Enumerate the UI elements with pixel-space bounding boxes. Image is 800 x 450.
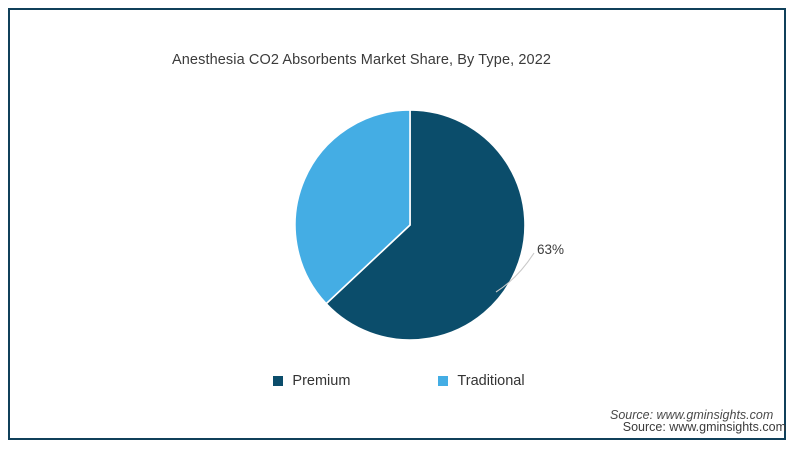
chart-card: Anesthesia CO2 Absorbents Market Share, … (8, 8, 786, 440)
legend-label-premium: Premium (292, 373, 350, 389)
legend-item-traditional[interactable]: Traditional (438, 373, 524, 389)
chart-title: Anesthesia CO2 Absorbents Market Share, … (172, 52, 551, 68)
pie-slice-group (295, 110, 525, 340)
legend-swatch-premium (273, 376, 283, 386)
data-label-premium: 63% (537, 242, 564, 257)
chart-legend: Premium Traditional (10, 373, 786, 389)
pie-slice-traditional[interactable] (295, 110, 410, 304)
legend-swatch-traditional (438, 376, 448, 386)
source-attribution-outer: Source: www.gminsights.com (0, 420, 786, 434)
pie-slice-premium[interactable] (326, 110, 525, 340)
legend-label-traditional: Traditional (457, 373, 524, 389)
data-label-leader-line (496, 253, 534, 292)
legend-item-premium[interactable]: Premium (273, 373, 350, 389)
